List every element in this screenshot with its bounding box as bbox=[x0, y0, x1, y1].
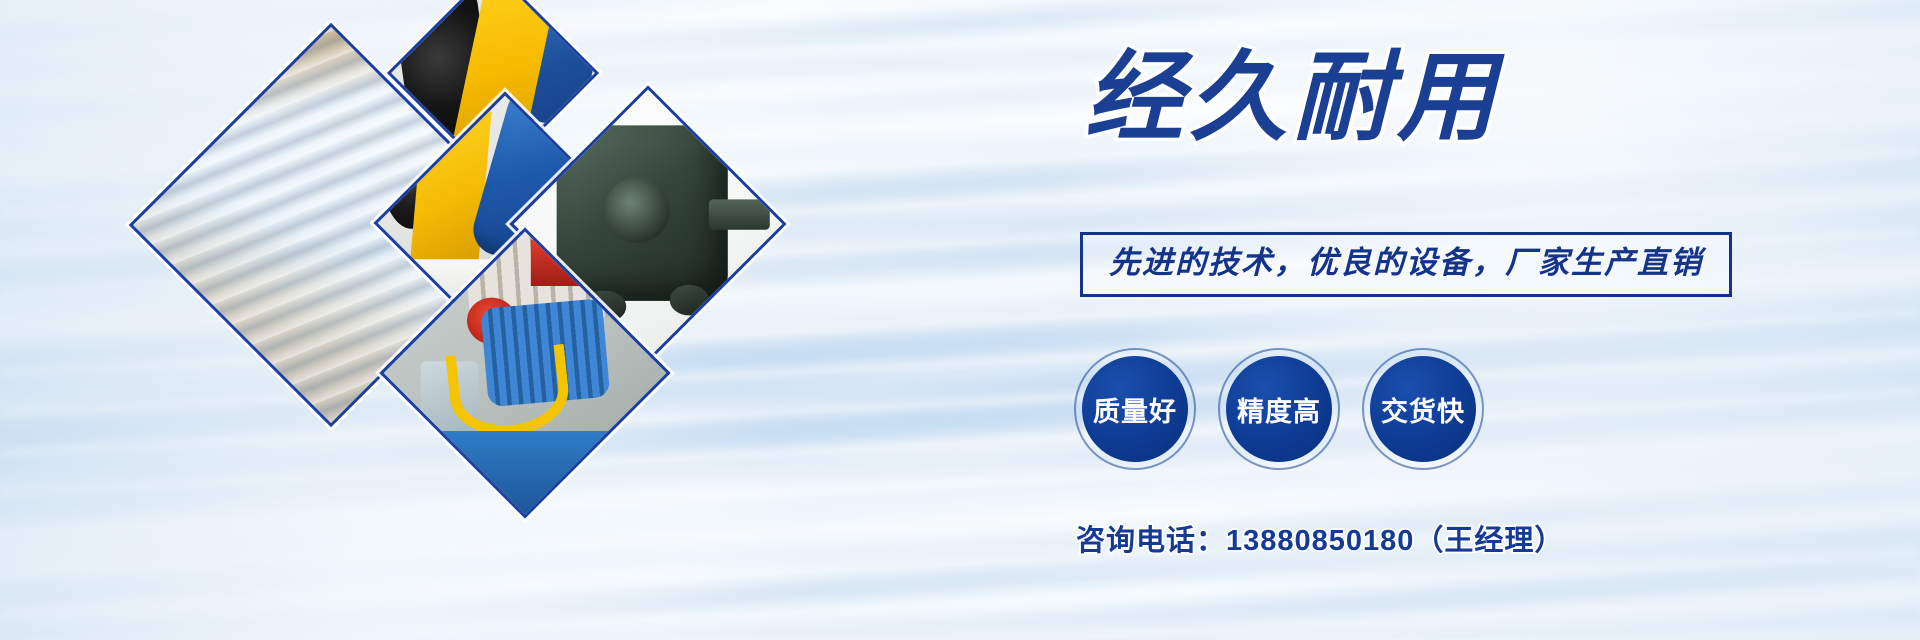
subtitle-text: 先进的技术，优良的设备，厂家生产直销 bbox=[1109, 244, 1703, 283]
product-photo-collage bbox=[150, 0, 850, 640]
pump-shaft-shape bbox=[709, 199, 770, 229]
feature-badges: 质量好 精度高 交货快 bbox=[1074, 348, 1484, 470]
badge-delivery[interactable]: 交货快 bbox=[1362, 348, 1484, 470]
badge-precision[interactable]: 精度高 bbox=[1218, 348, 1340, 470]
banner-content: 经久耐用 先进的技术，优良的设备，厂家生产直销 质量好 精度高 交货快 咨询电话… bbox=[1060, 0, 1920, 640]
promo-banner: 经久耐用 先进的技术，优良的设备，厂家生产直销 质量好 精度高 交货快 咨询电话… bbox=[0, 0, 1920, 640]
headline: 经久耐用 bbox=[1085, 48, 1501, 146]
red-button-2 bbox=[603, 469, 629, 495]
badge-label: 质量好 bbox=[1093, 390, 1177, 429]
pump-foot-shape-2 bbox=[670, 285, 709, 315]
blue-base-shape bbox=[407, 431, 660, 518]
contact-phone[interactable]: 咨询电话：13880850180（王经理） bbox=[1076, 517, 1564, 559]
badge-label: 交货快 bbox=[1381, 390, 1465, 429]
subtitle-box: 先进的技术，优良的设备，厂家生产直销 bbox=[1080, 232, 1732, 297]
badge-label: 精度高 bbox=[1237, 390, 1321, 429]
pump-hub-shape bbox=[604, 177, 670, 243]
red-button-1 bbox=[603, 428, 629, 454]
badge-quality[interactable]: 质量好 bbox=[1074, 348, 1196, 470]
